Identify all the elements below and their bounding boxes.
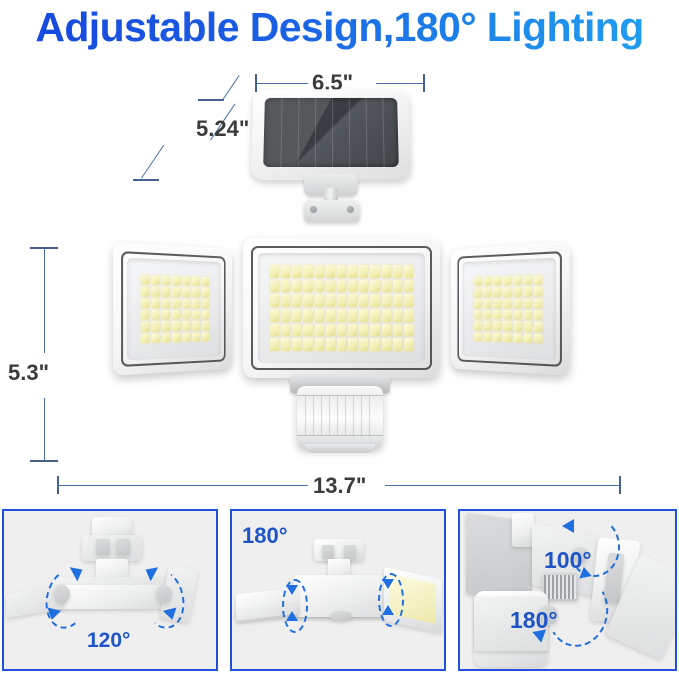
led bbox=[281, 324, 290, 337]
motion-sensor-base bbox=[305, 444, 375, 453]
led bbox=[513, 310, 521, 319]
led bbox=[474, 321, 482, 330]
led bbox=[270, 265, 279, 278]
led bbox=[182, 332, 190, 341]
led bbox=[201, 299, 209, 308]
dimension-tick-solar-height-bottom bbox=[133, 179, 159, 181]
led bbox=[370, 294, 379, 307]
led bbox=[523, 310, 532, 320]
led bbox=[393, 324, 402, 337]
led bbox=[404, 265, 413, 278]
adjustment-card-head-tilt: 120° bbox=[2, 509, 218, 671]
right-head-led-array bbox=[474, 275, 542, 343]
led bbox=[162, 276, 170, 286]
led bbox=[404, 280, 413, 293]
led bbox=[281, 265, 290, 278]
led bbox=[370, 280, 379, 293]
card1-knuckle-slot-left bbox=[96, 539, 110, 555]
solar-panel-housing bbox=[251, 89, 412, 180]
led bbox=[151, 287, 160, 297]
led bbox=[270, 338, 279, 351]
dimension-label-solar-height: 5.24" bbox=[196, 116, 249, 142]
led bbox=[141, 322, 150, 332]
left-light-head bbox=[113, 242, 232, 376]
led bbox=[326, 280, 335, 293]
led bbox=[382, 265, 391, 278]
led bbox=[337, 294, 346, 307]
led bbox=[182, 310, 190, 319]
led bbox=[201, 332, 209, 341]
led bbox=[315, 265, 324, 278]
card2-angle-label: 180° bbox=[242, 523, 288, 549]
led bbox=[303, 324, 312, 337]
card2-arrow-down-right bbox=[382, 579, 394, 589]
led bbox=[382, 324, 391, 337]
dimension-line-width-right bbox=[385, 485, 619, 486]
card3-arrow-upper bbox=[562, 519, 574, 533]
led bbox=[523, 333, 532, 343]
led bbox=[201, 277, 209, 286]
card2-bracket-slot-right bbox=[344, 545, 356, 559]
led bbox=[281, 280, 290, 293]
led bbox=[503, 333, 511, 343]
led bbox=[404, 338, 413, 351]
led bbox=[483, 277, 491, 286]
adjustment-card-head-rotate: 180° bbox=[230, 509, 446, 671]
led bbox=[493, 321, 501, 330]
led bbox=[192, 310, 200, 319]
led bbox=[151, 275, 160, 285]
led bbox=[483, 288, 491, 297]
led bbox=[359, 309, 368, 322]
card1-angle-label: 120° bbox=[87, 629, 130, 653]
led bbox=[348, 309, 357, 322]
solar-panel bbox=[252, 88, 412, 218]
center-light-head bbox=[243, 238, 440, 378]
led bbox=[474, 299, 482, 308]
led bbox=[534, 333, 543, 343]
led bbox=[393, 265, 402, 278]
dimension-tick-height-bottom bbox=[30, 460, 58, 462]
led bbox=[534, 322, 543, 332]
led bbox=[359, 338, 368, 351]
led bbox=[201, 321, 209, 330]
solar-cell-array bbox=[263, 98, 399, 167]
led bbox=[523, 275, 532, 285]
led bbox=[382, 309, 391, 322]
led bbox=[292, 265, 301, 278]
led bbox=[534, 275, 543, 285]
led bbox=[404, 324, 413, 337]
dimension-line-height-lower bbox=[44, 398, 45, 460]
led bbox=[182, 321, 190, 330]
led bbox=[141, 275, 150, 285]
led bbox=[172, 276, 180, 286]
led bbox=[162, 333, 170, 343]
led bbox=[141, 310, 150, 320]
led bbox=[348, 280, 357, 293]
led bbox=[370, 265, 379, 278]
led bbox=[483, 321, 491, 330]
led bbox=[523, 322, 532, 332]
led bbox=[513, 333, 521, 343]
led bbox=[326, 338, 335, 351]
card2-sensor bbox=[330, 611, 352, 621]
led bbox=[162, 310, 170, 319]
led bbox=[151, 322, 160, 332]
led bbox=[348, 294, 357, 307]
led bbox=[172, 333, 180, 343]
led bbox=[503, 276, 511, 286]
led bbox=[337, 324, 346, 337]
led bbox=[303, 338, 312, 351]
solar-panel-mount-plate bbox=[304, 200, 360, 222]
led bbox=[359, 280, 368, 293]
led bbox=[513, 287, 521, 297]
card3-angle-label-primary: 100° bbox=[544, 547, 592, 574]
led bbox=[151, 310, 160, 320]
led bbox=[303, 309, 312, 322]
led bbox=[141, 298, 150, 308]
led bbox=[337, 309, 346, 322]
led bbox=[172, 287, 180, 296]
led bbox=[348, 324, 357, 337]
led bbox=[534, 287, 543, 297]
led bbox=[493, 332, 501, 341]
led bbox=[192, 288, 200, 297]
led bbox=[270, 309, 279, 322]
led bbox=[393, 280, 402, 293]
led bbox=[503, 321, 511, 330]
led bbox=[281, 338, 290, 351]
led bbox=[201, 310, 209, 319]
dimension-line-solar-height-lower bbox=[141, 145, 164, 179]
led bbox=[303, 280, 312, 293]
led bbox=[359, 294, 368, 307]
adjustment-card-bracket: 100° 180° bbox=[458, 509, 677, 671]
center-head-led-array bbox=[270, 265, 413, 351]
led bbox=[315, 324, 324, 337]
card2-arrow-up-left bbox=[286, 611, 298, 621]
led bbox=[192, 299, 200, 308]
card2-arrow-down-left bbox=[286, 585, 298, 595]
led bbox=[503, 299, 511, 308]
led bbox=[493, 287, 501, 296]
led bbox=[292, 324, 301, 337]
led bbox=[326, 309, 335, 322]
led bbox=[534, 298, 543, 308]
led bbox=[393, 309, 402, 322]
led bbox=[151, 333, 160, 343]
led bbox=[192, 332, 200, 341]
led bbox=[182, 276, 190, 285]
dimension-tick-solar-width-end bbox=[423, 74, 425, 92]
center-head-reflector bbox=[258, 253, 425, 363]
led bbox=[370, 338, 379, 351]
card3-head-edge bbox=[512, 513, 534, 547]
led bbox=[182, 299, 190, 308]
led bbox=[281, 309, 290, 322]
dimension-label-fixture-height: 5.3" bbox=[8, 360, 49, 386]
led bbox=[382, 294, 391, 307]
led bbox=[172, 321, 180, 330]
page-title: Adjustable Design,180° Lighting bbox=[0, 2, 679, 52]
led bbox=[493, 276, 501, 285]
led bbox=[382, 280, 391, 293]
led bbox=[326, 265, 335, 278]
led bbox=[513, 299, 521, 308]
led bbox=[315, 338, 324, 351]
led bbox=[172, 299, 180, 308]
led bbox=[162, 321, 170, 331]
led bbox=[201, 288, 209, 297]
dimension-line-solar-width-right bbox=[376, 83, 424, 84]
motion-sensor bbox=[297, 386, 383, 448]
dimension-tick-width-end bbox=[619, 476, 621, 494]
led bbox=[303, 265, 312, 278]
led bbox=[513, 276, 521, 286]
led bbox=[141, 333, 150, 343]
led bbox=[162, 299, 170, 308]
card1-knuckle bbox=[82, 535, 142, 561]
led bbox=[315, 294, 324, 307]
dimension-line-height-upper bbox=[44, 249, 45, 353]
led bbox=[474, 310, 482, 319]
led bbox=[483, 332, 491, 341]
dimension-label-fixture-width: 13.7" bbox=[313, 473, 366, 499]
left-head-led-array bbox=[141, 275, 209, 343]
led bbox=[337, 338, 346, 351]
led bbox=[493, 299, 501, 308]
led bbox=[337, 280, 346, 293]
led bbox=[382, 338, 391, 351]
led bbox=[281, 294, 290, 307]
led bbox=[192, 321, 200, 330]
led bbox=[474, 277, 482, 286]
led bbox=[292, 338, 301, 351]
led bbox=[315, 280, 324, 293]
led bbox=[503, 287, 511, 296]
led bbox=[393, 338, 402, 351]
led bbox=[292, 309, 301, 322]
led bbox=[326, 294, 335, 307]
led bbox=[474, 332, 482, 341]
led bbox=[404, 294, 413, 307]
led bbox=[348, 265, 357, 278]
led bbox=[493, 310, 501, 319]
card1-knuckle-slot-right bbox=[116, 539, 130, 555]
led bbox=[513, 321, 521, 331]
led bbox=[503, 310, 511, 319]
dimension-line-width-left bbox=[58, 485, 308, 486]
card3-angle-label-secondary: 180° bbox=[510, 607, 558, 634]
card2-bracket-slot-left bbox=[322, 545, 334, 559]
led bbox=[292, 294, 301, 307]
led bbox=[370, 324, 379, 337]
led bbox=[182, 287, 190, 296]
led bbox=[270, 294, 279, 307]
led bbox=[326, 324, 335, 337]
dimension-line-solar-height-top bbox=[222, 75, 240, 100]
dimension-line-solar-width-left bbox=[256, 83, 308, 84]
dimension-tick-solar-height-top bbox=[198, 99, 224, 101]
card1-arrow-down-left bbox=[45, 607, 61, 621]
led bbox=[172, 310, 180, 319]
led bbox=[337, 265, 346, 278]
led bbox=[523, 287, 532, 297]
led bbox=[315, 309, 324, 322]
right-head-reflector bbox=[462, 258, 556, 361]
led bbox=[151, 298, 160, 308]
led bbox=[483, 299, 491, 308]
led bbox=[162, 287, 170, 297]
infographic-canvas: Adjustable Design,180° Lighting 6.5" 5.2… bbox=[0, 0, 679, 674]
led bbox=[359, 265, 368, 278]
led bbox=[523, 298, 532, 308]
left-head-reflector bbox=[127, 258, 221, 361]
led bbox=[393, 294, 402, 307]
right-light-head bbox=[451, 242, 570, 376]
led bbox=[270, 324, 279, 337]
led bbox=[348, 338, 357, 351]
led bbox=[303, 294, 312, 307]
led bbox=[292, 280, 301, 293]
led bbox=[474, 288, 482, 297]
led bbox=[370, 309, 379, 322]
led bbox=[534, 310, 543, 320]
led bbox=[270, 280, 279, 293]
led bbox=[404, 309, 413, 322]
led bbox=[359, 324, 368, 337]
card2-arrow-up-right bbox=[382, 605, 394, 615]
led bbox=[483, 310, 491, 319]
led bbox=[141, 287, 150, 297]
led bbox=[192, 277, 200, 286]
